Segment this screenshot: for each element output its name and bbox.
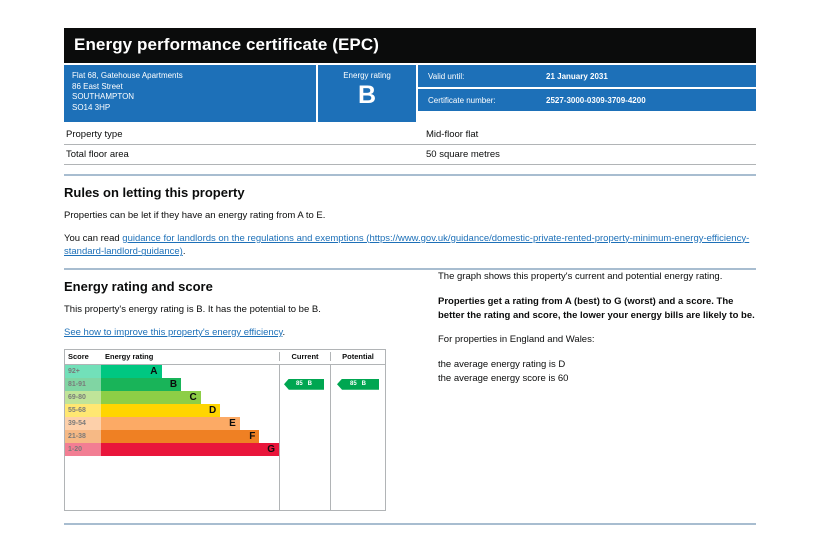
improve-suffix: . (283, 327, 286, 338)
current-cell-a (279, 365, 330, 378)
potential-cell-e (330, 417, 385, 430)
chart-band-row-e: 39-54E (65, 417, 385, 430)
current-cell-b: 85B (279, 378, 330, 391)
chart-band-row-c: 69-80C (65, 391, 385, 404)
band-bar-cell-e: E (101, 417, 279, 430)
improve-efficiency-paragraph: See how to improve this property's energ… (64, 326, 420, 340)
potential-cell-g (330, 443, 385, 456)
certificate-summary-band: Flat 68, Gatehouse Apartments 86 East St… (64, 65, 756, 122)
current-cell-c (279, 391, 330, 404)
chart-band-row-b: 81-91B85B85B (65, 378, 385, 391)
band-bar-a: A (101, 365, 162, 378)
average-energy-score: the average energy score is 60 (438, 372, 756, 386)
landlord-guidance-link[interactable]: guidance for landlords on the regulation… (64, 233, 749, 258)
property-details-table: Property type Mid-floor flat Total floor… (64, 125, 756, 165)
band-bar-b: B (101, 378, 181, 391)
explainer-column: The graph shows this property's current … (420, 270, 756, 511)
chart-band-row-d: 55-68D (65, 404, 385, 417)
band-score-range-f: 21-38 (65, 430, 101, 443)
rating-and-explainer: Energy rating and score This property's … (64, 270, 756, 511)
potential-cell-a (330, 365, 385, 378)
band-bar-cell-c: C (101, 391, 279, 404)
chart-header-potential: Potential (330, 352, 385, 361)
chart-band-rows: 92+A81-91B85B85B69-80C55-68D39-54E21-38F… (65, 365, 385, 456)
potential-cell-f (330, 430, 385, 443)
band-score-range-d: 55-68 (65, 404, 101, 417)
current-score-value: 85 (296, 381, 303, 387)
certificate-number-row: Certificate number: 2527-3000-0309-3709-… (418, 89, 756, 111)
energy-rating-label: Energy rating (318, 71, 416, 81)
chart-footer-potential-cell (330, 456, 385, 510)
current-cell-f (279, 430, 330, 443)
chart-header-energy-rating: Energy rating (101, 352, 279, 361)
current-cell-d (279, 404, 330, 417)
epc-rating-chart: Score Energy rating Current Potential 92… (64, 349, 386, 511)
rating-paragraph: This property's energy rating is B. It h… (64, 303, 420, 317)
band-score-range-c: 69-80 (65, 391, 101, 404)
band-bar-cell-b: B (101, 378, 279, 391)
chart-footer-score-cell (65, 456, 101, 510)
potential-cell-d (330, 404, 385, 417)
address-line-4: SO14 3HP (72, 103, 308, 114)
band-score-range-e: 39-54 (65, 417, 101, 430)
property-type-value: Mid-floor flat (426, 129, 756, 140)
chart-header-row: Score Energy rating Current Potential (65, 350, 385, 365)
chart-band-row-a: 92+A (65, 365, 385, 378)
bottom-divider (64, 523, 756, 525)
band-bar-g: G (101, 443, 279, 456)
page-title: Energy performance certificate (EPC) (64, 28, 756, 63)
current-rating-letter: B (308, 381, 312, 387)
letting-guidance-paragraph: You can read guidance for landlords on t… (64, 232, 756, 260)
rating-heading: Energy rating and score (64, 279, 420, 294)
total-floor-area-value: 50 square metres (426, 149, 756, 160)
document-content: Energy performance certificate (EPC) Fla… (64, 28, 756, 525)
energy-rating-value: B (318, 82, 416, 108)
letting-heading: Rules on letting this property (64, 185, 756, 200)
address-line-3: SOUTHAMPTON (72, 92, 308, 103)
property-address: Flat 68, Gatehouse Apartments 86 East St… (64, 65, 316, 122)
address-line-1: Flat 68, Gatehouse Apartments (72, 71, 308, 82)
current-cell-g (279, 443, 330, 456)
current-cell-e (279, 417, 330, 430)
band-bar-cell-d: D (101, 404, 279, 417)
band-bar-cell-a: A (101, 365, 279, 378)
guidance-suffix: . (183, 246, 186, 257)
improve-efficiency-link[interactable]: See how to improve this property's energ… (64, 327, 283, 338)
section-divider (64, 174, 756, 176)
explainer-paragraph-1: The graph shows this property's current … (438, 270, 756, 284)
total-floor-area-label: Total floor area (66, 149, 426, 160)
current-rating-arrow: 85B (284, 379, 324, 390)
chart-header-score: Score (65, 352, 101, 361)
potential-cell-c (330, 391, 385, 404)
band-score-range-a: 92+ (65, 365, 101, 378)
potential-score-value: 85 (350, 381, 357, 387)
valid-until-value: 21 January 2031 (546, 72, 608, 81)
chart-header-current: Current (279, 352, 330, 361)
certificate-meta: Valid until: 21 January 2031 Certificate… (416, 65, 756, 122)
potential-rating-arrow: 85B (337, 379, 379, 390)
band-bar-cell-f: F (101, 430, 279, 443)
explainer-paragraph-2: Properties get a rating from A (best) to… (438, 295, 756, 323)
certificate-number-label: Certificate number: (428, 96, 546, 105)
band-score-range-b: 81-91 (65, 378, 101, 391)
potential-cell-b: 85B (330, 378, 385, 391)
rating-column: Energy rating and score This property's … (64, 270, 420, 511)
chart-footer-rating-cell (101, 456, 279, 510)
explainer-paragraph-3: For properties in England and Wales: (438, 333, 756, 347)
chart-footer-spacer (65, 456, 385, 510)
band-bar-e: E (101, 417, 240, 430)
chart-band-row-g: 1-20G (65, 443, 385, 456)
address-line-2: 86 East Street (72, 82, 308, 93)
chart-footer-current-cell (279, 456, 330, 510)
table-row: Property type Mid-floor flat (64, 125, 756, 145)
band-score-range-g: 1-20 (65, 443, 101, 456)
energy-rating-badge: Energy rating B (316, 65, 416, 122)
letting-paragraph: Properties can be let if they have an en… (64, 209, 756, 223)
certificate-number-value: 2527-3000-0309-3709-4200 (546, 96, 646, 105)
table-row: Total floor area 50 square metres (64, 145, 756, 165)
guidance-prefix: You can read (64, 233, 122, 244)
potential-rating-letter: B (362, 381, 366, 387)
chart-band-row-f: 21-38F (65, 430, 385, 443)
band-bar-d: D (101, 404, 220, 417)
valid-until-row: Valid until: 21 January 2031 (418, 65, 756, 87)
band-bar-c: C (101, 391, 201, 404)
valid-until-label: Valid until: (428, 72, 546, 81)
band-bar-f: F (101, 430, 259, 443)
property-type-label: Property type (66, 129, 426, 140)
average-energy-rating: the average energy rating is D (438, 358, 756, 372)
band-bar-cell-g: G (101, 443, 279, 456)
epc-document-page: Energy performance certificate (EPC) Fla… (0, 0, 820, 547)
